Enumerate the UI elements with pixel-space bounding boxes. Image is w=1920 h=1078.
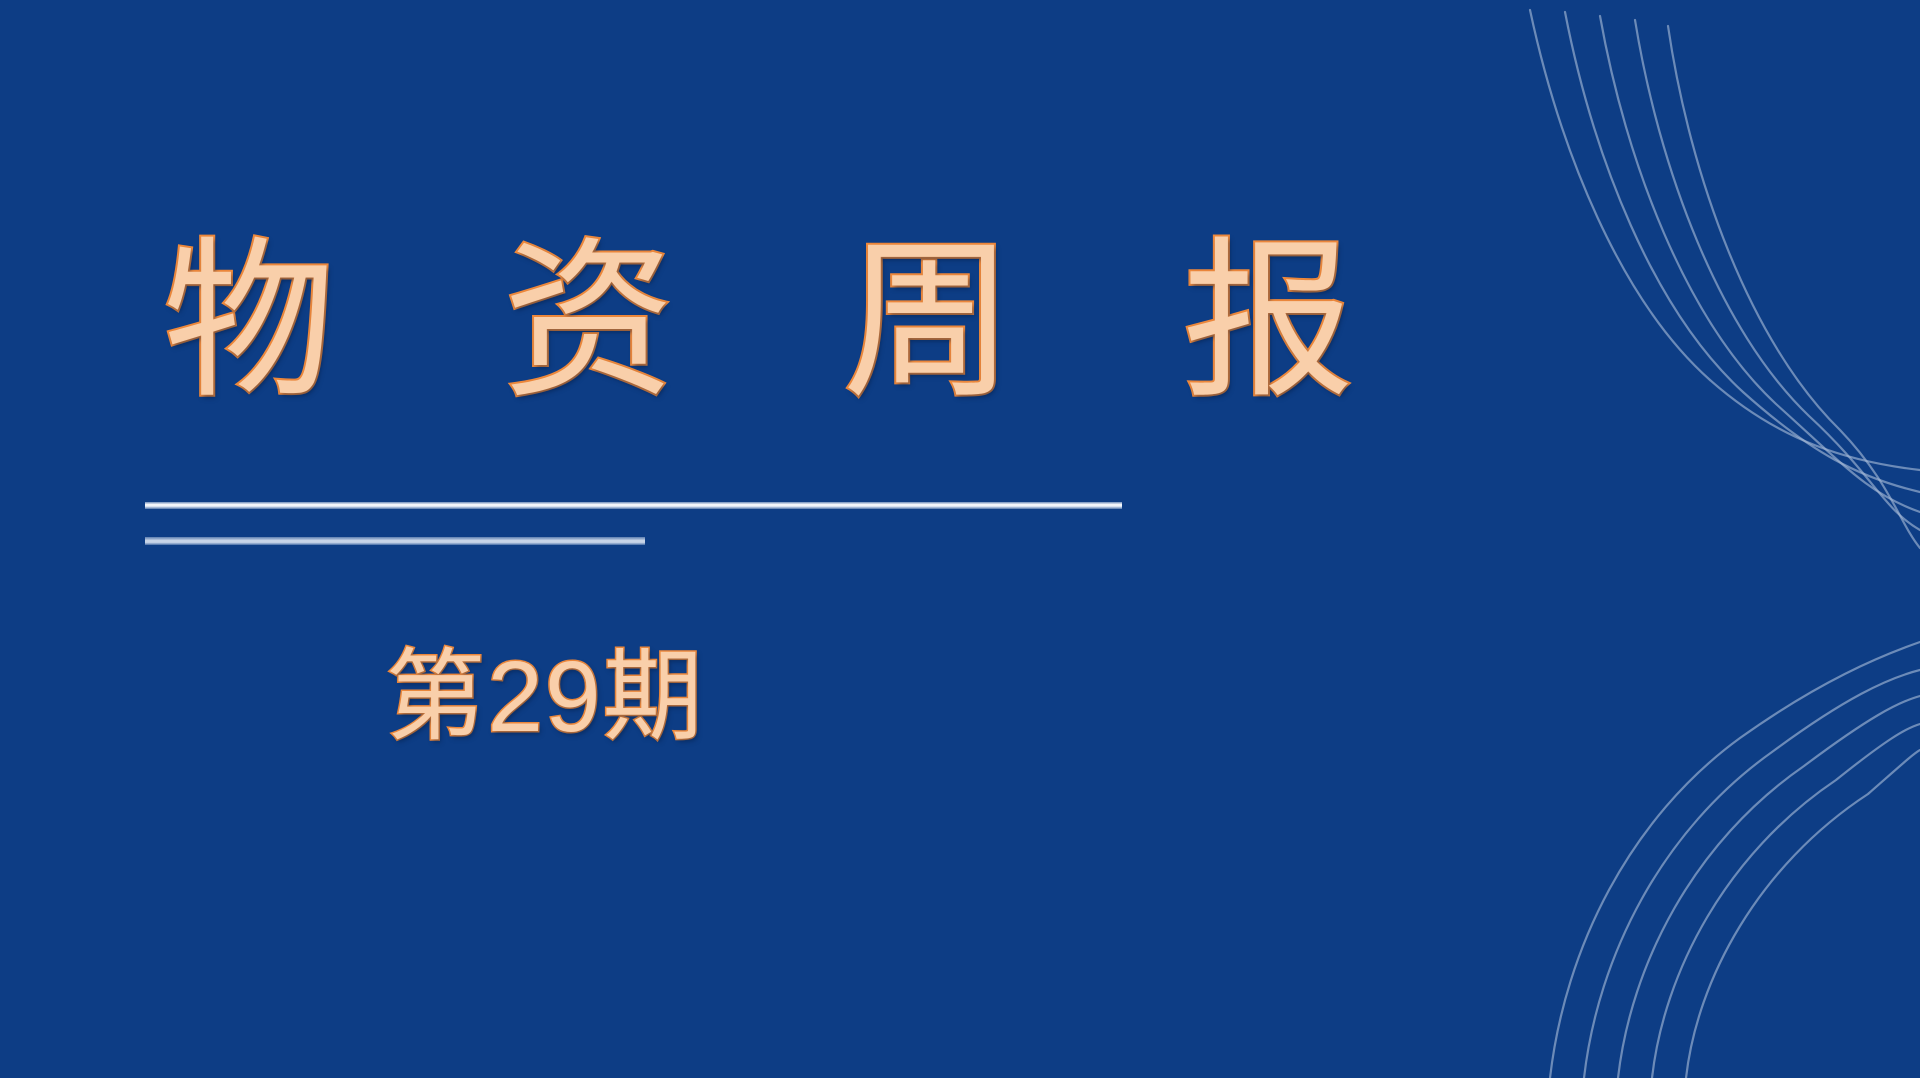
issue-subtitle: 第29期: [145, 640, 945, 755]
title-underline-secondary: [145, 537, 645, 545]
title-slide: 物 资 周 报 第29期: [0, 0, 1920, 1078]
title-underline-primary: [145, 502, 1122, 509]
subtitle-block: 第29期: [145, 640, 945, 755]
title-underline-group: [145, 502, 1145, 545]
title-block: 物 资 周 报: [145, 236, 1145, 408]
page-title: 物 资 周 报: [145, 236, 1145, 408]
